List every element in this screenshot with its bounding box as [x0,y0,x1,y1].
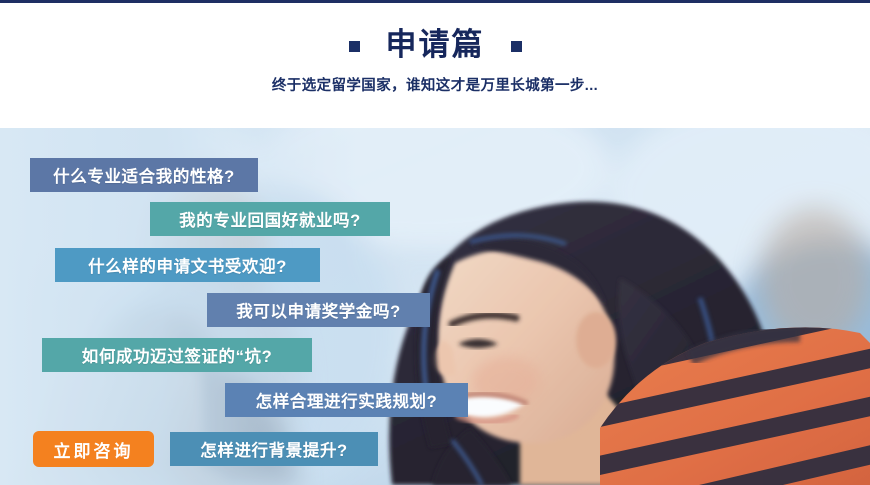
square-bullet-right-icon [511,41,522,52]
header: 申请篇 终于选定留学国家，谁知这才是万里长城第一步... [0,3,870,128]
square-bullet-left-icon [349,41,360,52]
page-title: 申请篇 [349,29,522,60]
consult-now-button[interactable]: 立即咨询 [33,431,154,467]
question-chip[interactable]: 什么样的申请文书受欢迎? [55,248,320,282]
promo-banner: 申请篇 终于选定留学国家，谁知这才是万里长城第一步... [0,0,870,485]
page-subtitle: 终于选定留学国家，谁知这才是万里长城第一步... [272,74,598,95]
question-chip[interactable]: 怎样合理进行实践规划? [225,383,468,417]
hero-section: 什么专业适合我的性格? 我的专业回国好就业吗? 什么样的申请文书受欢迎? 我可以… [0,128,870,485]
question-chip[interactable]: 怎样进行背景提升? [170,432,378,466]
question-chip[interactable]: 我的专业回国好就业吗? [150,202,390,236]
question-chip[interactable]: 我可以申请奖学金吗? [207,293,430,327]
page-title-text: 申请篇 [386,29,485,60]
question-chip[interactable]: 什么专业适合我的性格? [30,158,258,192]
question-chip[interactable]: 如何成功迈过签证的“坑? [42,338,312,372]
